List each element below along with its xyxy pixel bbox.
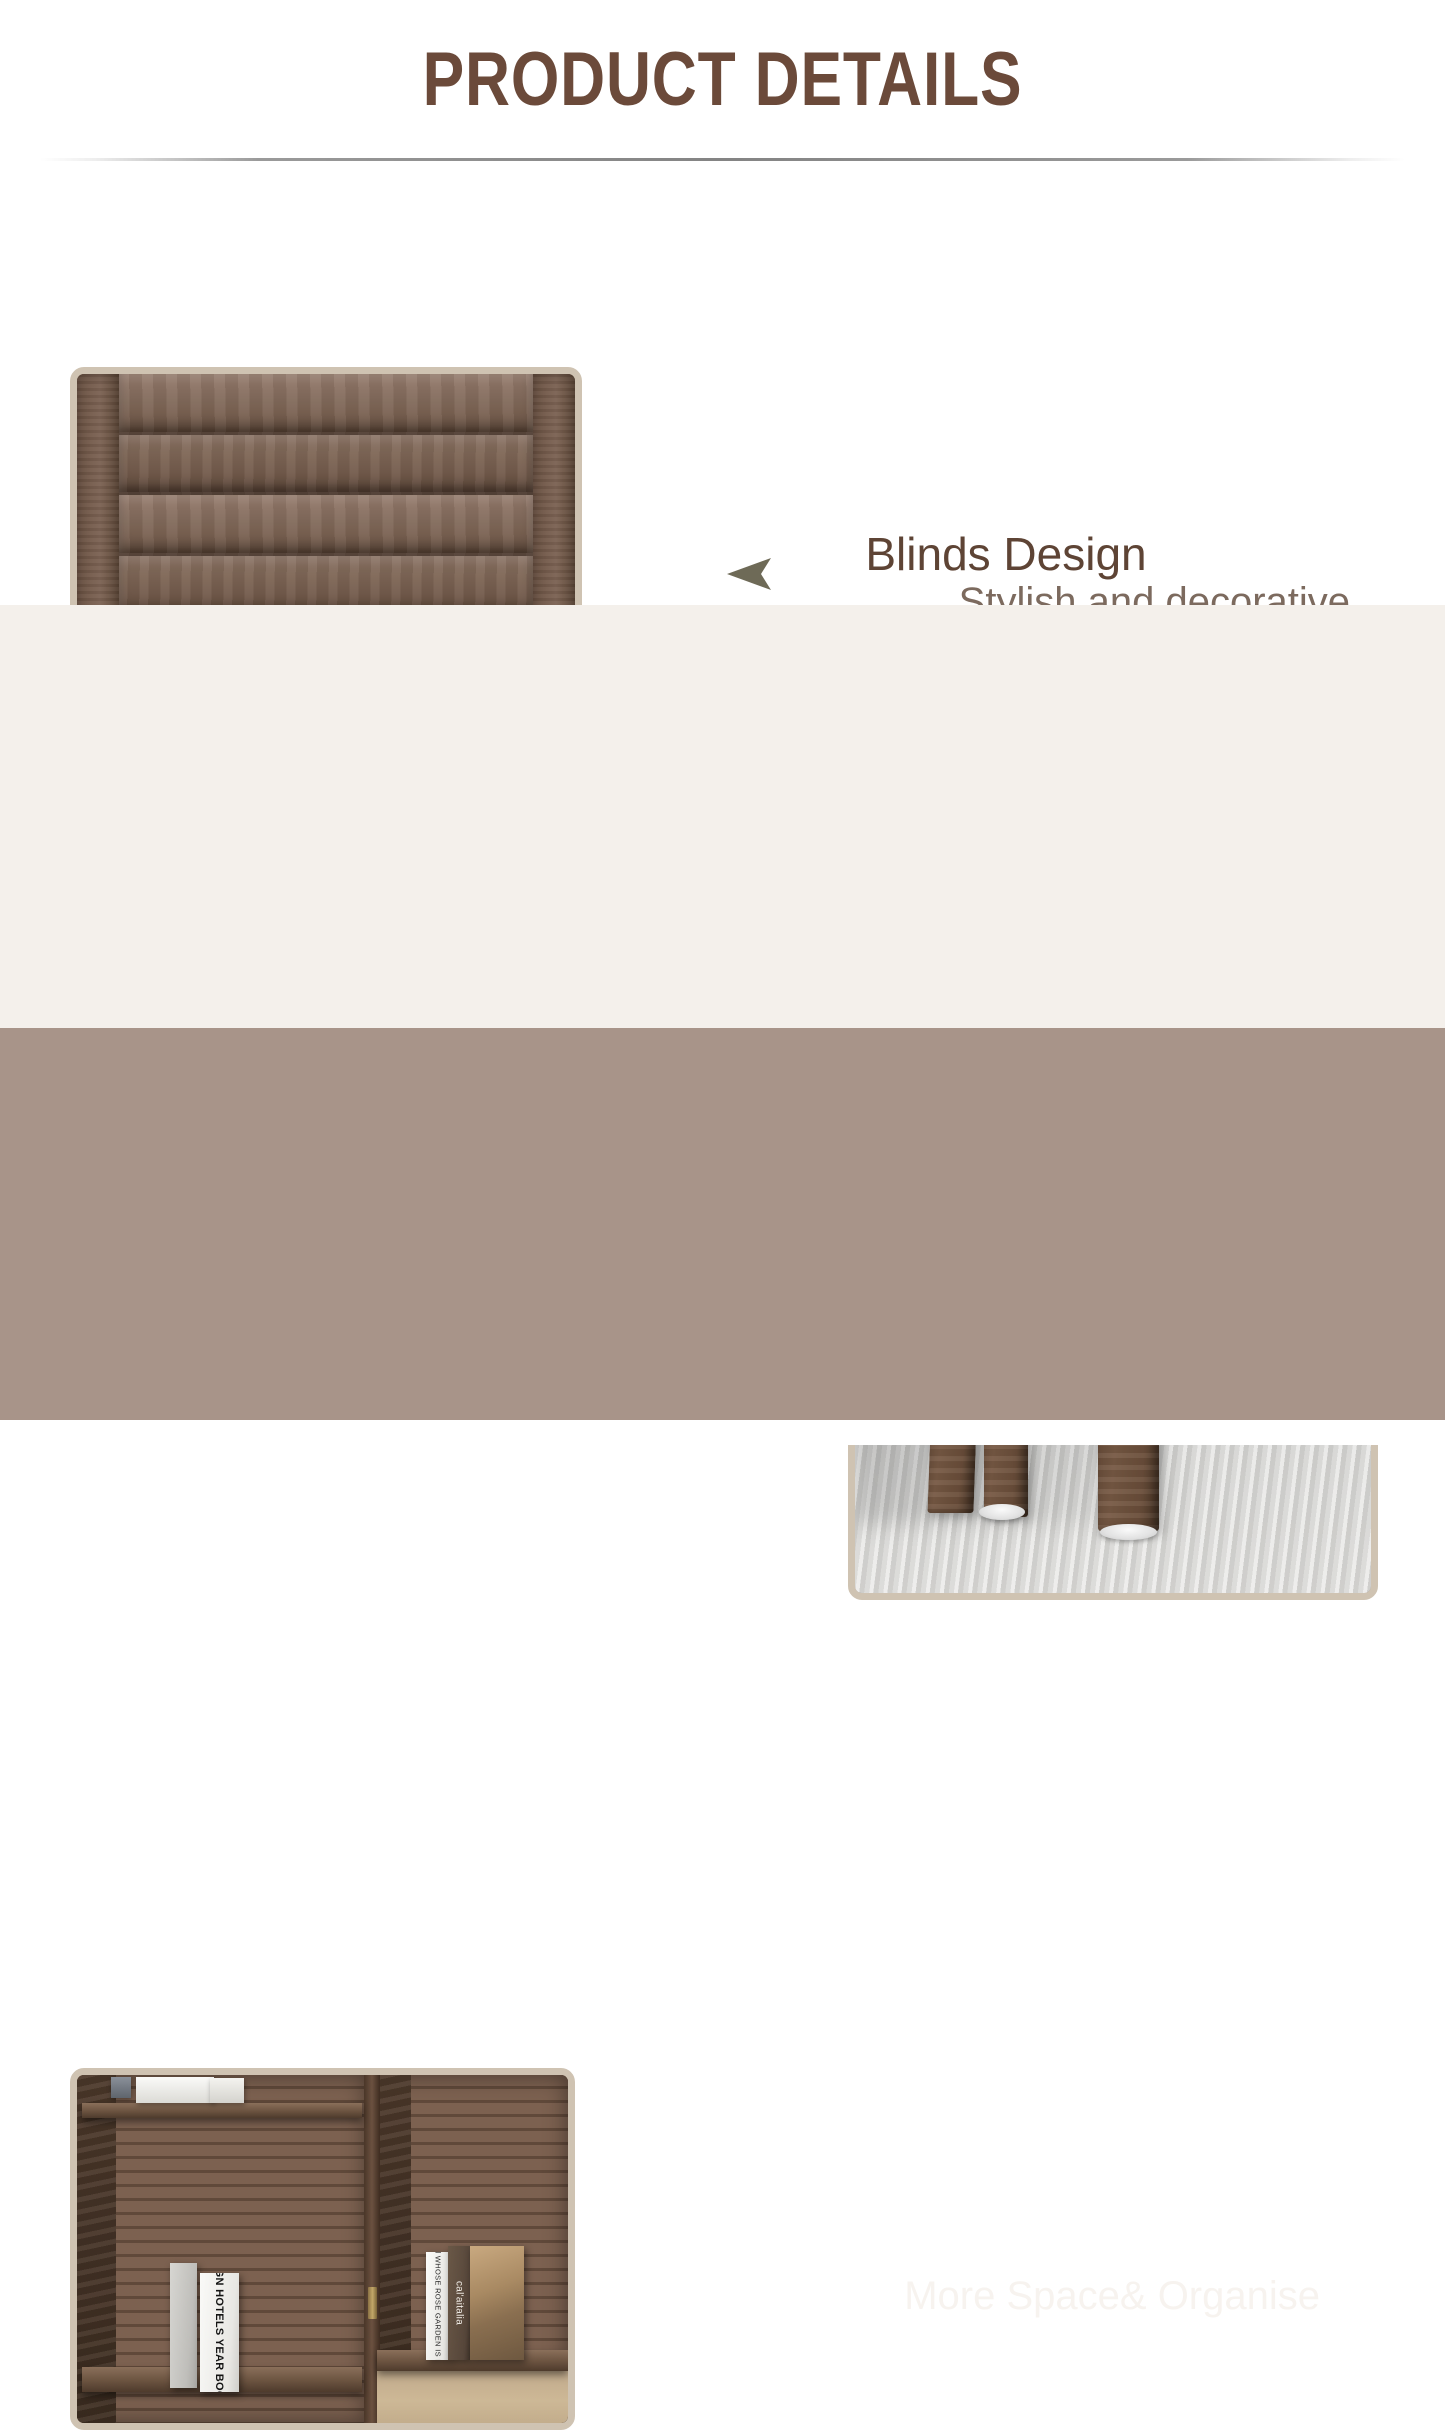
louver-slat xyxy=(119,374,533,435)
section-elevated-base: Elevated Base Keep good ventilation xyxy=(0,605,1445,1028)
decor-vase xyxy=(210,2078,244,2102)
book-cover-art xyxy=(470,2246,524,2361)
page-header: PRODUCT DETAILS xyxy=(0,0,1445,162)
page-footer-strip xyxy=(0,1420,1445,1445)
book-casaitalia-spine: cal'aitalia xyxy=(453,2281,464,2325)
louver-slat xyxy=(119,435,533,496)
room-floor xyxy=(377,2367,569,2423)
cabinet-hinge xyxy=(368,2287,377,2318)
blinds-design-title: Blinds Design xyxy=(720,530,1350,580)
book-art-buchwald-spine: Art Buchwald WHOSE ROSE GARDEN IS IT ANY… xyxy=(433,2252,442,2360)
title-divider xyxy=(40,158,1405,161)
decor-object xyxy=(111,2077,131,2098)
section-blinds-design: Blinds Design Stylish and decorative xyxy=(0,162,1445,605)
foot-pad xyxy=(979,1504,1025,1520)
photo-display-shelves: DESIGN HOTELS YEAR BOOK 09 Art Buchwald … xyxy=(70,2068,575,2430)
photo-display-shelves-inner: DESIGN HOTELS YEAR BOOK 09 Art Buchwald … xyxy=(77,2075,568,2423)
book-casaitalia: cal'aitalia xyxy=(448,2246,470,2361)
book-art-buchwald: Art Buchwald WHOSE ROSE GARDEN IS IT ANY… xyxy=(426,2252,451,2360)
section-display-shelves: DESIGN HOTELS YEAR BOOK 09 Art Buchwald … xyxy=(0,1028,1445,1420)
display-shelves-title: Display Shelves xyxy=(720,2224,1320,2274)
book-grey xyxy=(170,2263,197,2388)
page-title: PRODUCT DETAILS xyxy=(130,36,1315,123)
caption-display-shelves: Display Shelves More Space& Organise xyxy=(720,2224,1320,2318)
louver-slat xyxy=(119,495,533,556)
shelf-board xyxy=(82,2103,362,2119)
decor-book-box xyxy=(136,2077,215,2103)
display-shelves-subtitle: More Space& Organise xyxy=(720,2274,1320,2319)
book-design-hotels-spine: DESIGN HOTELS YEAR BOOK 09 xyxy=(213,2273,225,2391)
book-design-hotels: DESIGN HOTELS YEAR BOOK 09 xyxy=(200,2273,239,2391)
